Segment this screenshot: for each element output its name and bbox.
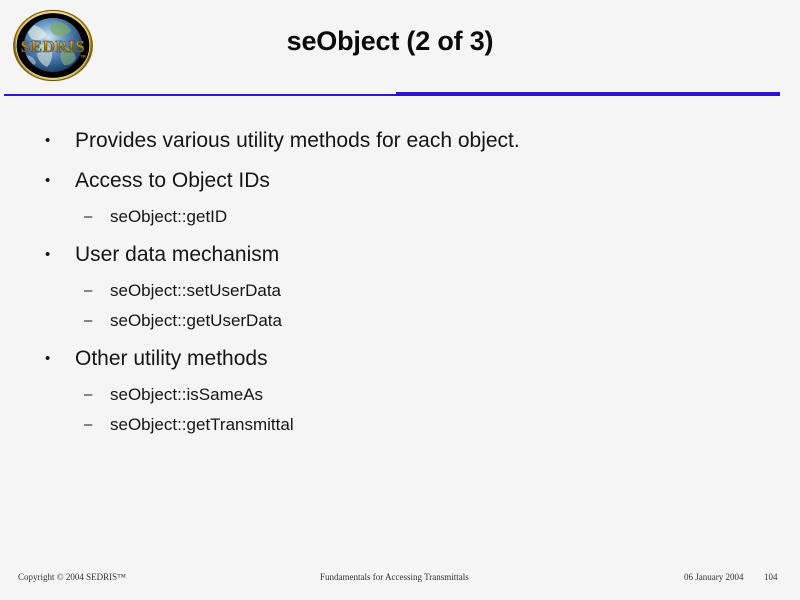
bullet-level2-label: seObject::isSameAs [110, 385, 263, 404]
divider-rule-left [4, 94, 398, 96]
dash-marker-icon: – [84, 414, 92, 436]
slide: SEDRIS ™ seObject (2 of 3) • Provides va… [0, 0, 800, 600]
footer-course-name: Fundamentals for Accessing Transmittals [320, 572, 469, 582]
bullet-level2-label: seObject::setUserData [110, 281, 281, 300]
bullet-level2: – seObject::getTransmittal [0, 414, 800, 436]
bullet-level1: • Other utility methods [0, 346, 800, 372]
footer-date: 06 January 2004 [684, 572, 744, 582]
bullet-marker-icon: • [45, 168, 50, 194]
sedris-logo-icon: SEDRIS ™ [8, 7, 98, 84]
bullet-level2: – seObject::getID [0, 206, 800, 228]
bullet-level2: – seObject::isSameAs [0, 384, 800, 406]
logo-wordmark: SEDRIS [21, 37, 85, 56]
divider-rule-right [396, 92, 780, 96]
bullet-level2-label: seObject::getUserData [110, 311, 282, 330]
bullet-level2-label: seObject::getTransmittal [110, 415, 294, 434]
bullet-group: • Provides various utility methods for e… [0, 128, 800, 154]
bullet-level1-label: Provides various utility methods for eac… [75, 129, 520, 152]
bullet-level2: – seObject::getUserData [0, 310, 800, 332]
dash-marker-icon: – [84, 384, 92, 406]
logo-trademark: ™ [80, 55, 86, 61]
slide-title: seObject (2 of 3) [110, 26, 670, 57]
slide-body: • Provides various utility methods for e… [0, 128, 800, 444]
bullet-marker-icon: • [45, 128, 50, 154]
bullet-level2-label: seObject::getID [110, 207, 227, 226]
bullet-level2: – seObject::setUserData [0, 280, 800, 302]
bullet-level1: • User data mechanism [0, 242, 800, 268]
bullet-level1: • Provides various utility methods for e… [0, 128, 800, 154]
bullet-group: • User data mechanism – seObject::setUse… [0, 242, 800, 332]
bullet-level1-label: User data mechanism [75, 243, 279, 266]
bullet-level1-label: Access to Object IDs [75, 169, 270, 192]
bullet-marker-icon: • [45, 346, 50, 372]
bullet-marker-icon: • [45, 242, 50, 268]
sedris-logo: SEDRIS ™ [8, 7, 98, 84]
slide-footer: Copyright © 2004 SEDRIS™ Fundamentals fo… [0, 572, 800, 588]
dash-marker-icon: – [84, 206, 92, 228]
bullet-group: • Other utility methods – seObject::isSa… [0, 346, 800, 436]
footer-copyright: Copyright © 2004 SEDRIS™ [18, 572, 126, 582]
bullet-level1-label: Other utility methods [75, 347, 268, 370]
footer-page-number: 104 [764, 572, 778, 582]
dash-marker-icon: – [84, 310, 92, 332]
bullet-group: • Access to Object IDs – seObject::getID [0, 168, 800, 228]
dash-marker-icon: – [84, 280, 92, 302]
bullet-level1: • Access to Object IDs [0, 168, 800, 194]
